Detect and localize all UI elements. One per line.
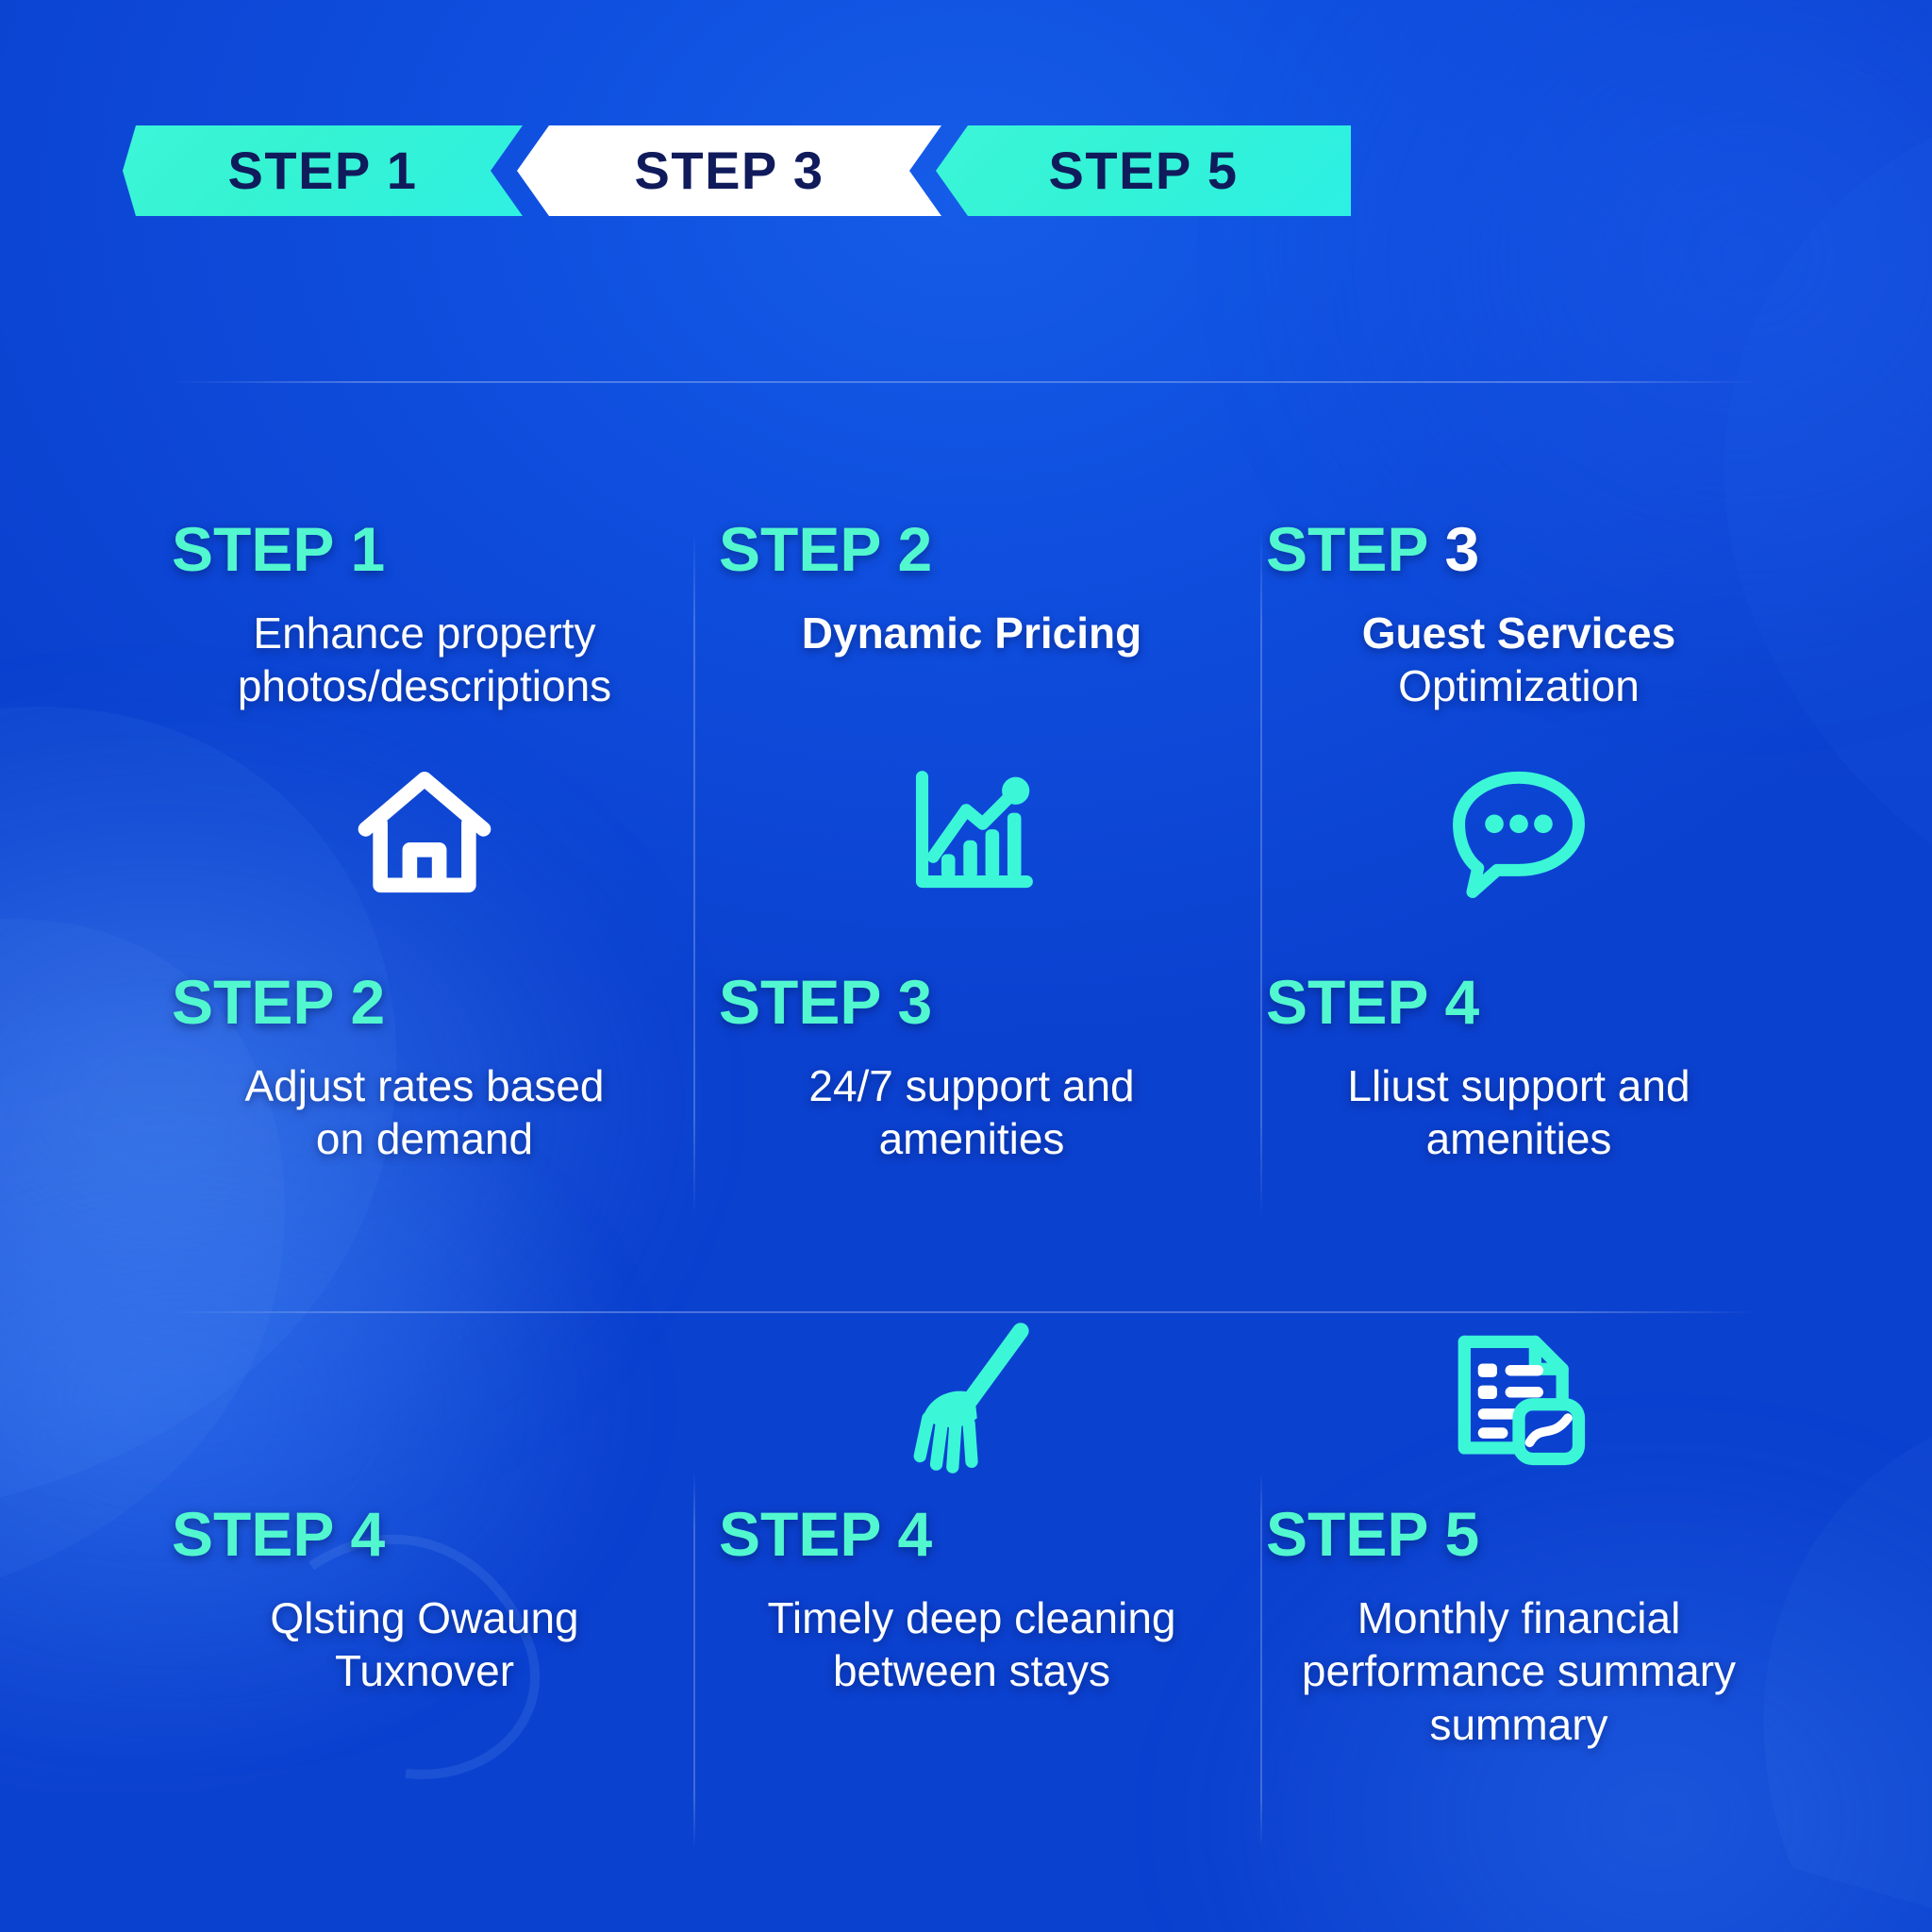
tab-step-5[interactable]: STEP 5 — [936, 125, 1351, 216]
cell-step-3-step-label: STEP 3 — [1266, 514, 1479, 584]
cell-step-1-desc-line1: Enhance property — [172, 607, 677, 659]
cell-step-3b-step-label: STEP 3 — [719, 967, 932, 1037]
tab-step-5-label: STEP 5 — [1049, 144, 1239, 197]
cell-step-5c-desc-line3: summary — [1266, 1698, 1772, 1751]
icon-cell-bar-chart — [698, 766, 1245, 898]
cell-step-5c: STEP 5 Monthly financial performance sum… — [1245, 1502, 1792, 1751]
cell-step-2-desc-line1: Dynamic Pricing — [719, 607, 1224, 659]
cell-step-2-heading: STEP 2 — [719, 517, 1224, 582]
icon-row-1 — [151, 766, 1792, 898]
cell-step-4d: STEP 4 Timely deep cleaning between stay… — [698, 1502, 1245, 1751]
icon-cell-chat-bubble — [1245, 766, 1792, 898]
house-icon — [354, 766, 495, 898]
cell-step-2b-heading: STEP 2 — [172, 970, 677, 1035]
cell-step-1-desc: Enhance property photos/descriptions — [172, 607, 677, 712]
cell-step-2b: STEP 2 Adjust rates based on demand — [151, 970, 698, 1166]
content-row-3: STEP 4 Qlsting Owaung Tuxnover STEP 4 Ti… — [151, 1502, 1792, 1751]
content-row-1: STEP 1 Enhance property photos/descripti… — [151, 517, 1792, 713]
cell-step-5c-desc-line1: Monthly financial — [1266, 1591, 1772, 1644]
cell-step-4c-desc-line1: Qlsting Owaung — [172, 1591, 677, 1644]
cell-step-2-desc: Dynamic Pricing — [719, 607, 1224, 659]
cell-step-3b-heading: STEP 3 — [719, 970, 1224, 1035]
cell-step-3-number: 3 — [1445, 514, 1480, 584]
cell-step-4b: STEP 4 Lliust support and amenities — [1245, 970, 1792, 1166]
bar-chart-growth-icon — [906, 766, 1038, 898]
cell-step-5c-heading: STEP 5 — [1266, 1502, 1772, 1567]
cell-step-1: STEP 1 Enhance property photos/descripti… — [151, 517, 698, 713]
cell-step-4b-desc-line1: Lliust support and — [1266, 1059, 1772, 1112]
cell-step-5c-step-label: STEP 5 — [1266, 1499, 1479, 1569]
cell-step-3-desc-line1: Guest Services — [1266, 607, 1772, 659]
cell-step-4c-heading: STEP 4 — [172, 1502, 677, 1567]
cell-step-1-heading: STEP 1 — [172, 517, 677, 582]
cell-step-3b-desc: 24/7 support and amenities — [719, 1059, 1224, 1165]
cell-step-3-desc: Guest Services Optimization — [1266, 607, 1772, 712]
cell-step-2b-desc: Adjust rates based on demand — [172, 1059, 677, 1165]
icon-cell-document-report — [1245, 1319, 1792, 1479]
cell-step-4d-desc: Timely deep cleaning between stays — [719, 1591, 1224, 1697]
cell-step-4c-step-label: STEP 4 — [172, 1499, 385, 1569]
cell-step-2b-desc-line1: Adjust rates based — [172, 1059, 677, 1112]
cell-step-3: STEP 3 Guest Services Optimization — [1245, 517, 1792, 713]
cell-step-2b-step-label: STEP 2 — [172, 967, 385, 1037]
cell-step-3b-desc-line2: amenities — [719, 1112, 1224, 1165]
cell-step-4b-desc: Lliust support and amenities — [1266, 1059, 1772, 1165]
cell-step-2-step-label: STEP 2 — [719, 514, 932, 584]
divider-horizontal-top — [172, 381, 1760, 383]
cell-step-4d-heading: STEP 4 — [719, 1502, 1224, 1567]
cell-step-4d-desc-line1: Timely deep cleaning — [719, 1591, 1224, 1644]
broom-icon — [901, 1319, 1042, 1479]
icon-cell-house — [151, 766, 698, 898]
cell-step-2b-desc-line2: on demand — [172, 1112, 677, 1165]
cell-step-5c-desc: Monthly financial performance summary su… — [1266, 1591, 1772, 1750]
infographic-canvas: STEP 1 STEP 3 STEP 5 STEP 1 Enhance prop… — [0, 0, 1932, 1932]
step-tabs-bar: STEP 1 STEP 3 STEP 5 — [123, 125, 1351, 216]
cell-step-4d-step-label: STEP 4 — [719, 1499, 932, 1569]
cell-step-1-desc-line2: photos/descriptions — [172, 659, 677, 712]
cell-step-3b: STEP 3 24/7 support and amenities — [698, 970, 1245, 1166]
divider-horizontal-bottom — [172, 1311, 1760, 1313]
tab-step-1[interactable]: STEP 1 — [123, 125, 523, 216]
cell-step-3-desc-line2: Optimization — [1266, 659, 1772, 712]
document-report-icon — [1448, 1328, 1590, 1470]
cell-step-4b-step-label: STEP 4 — [1266, 967, 1479, 1037]
cell-step-4d-desc-line2: between stays — [719, 1644, 1224, 1697]
cell-step-2: STEP 2 Dynamic Pricing — [698, 517, 1245, 713]
tab-step-3-label: STEP 3 — [635, 144, 824, 197]
cell-step-4b-desc-line2: amenities — [1266, 1112, 1772, 1165]
cell-step-3b-desc-line1: 24/7 support and — [719, 1059, 1224, 1112]
cell-step-4c-desc-line2: Tuxnover — [172, 1644, 677, 1697]
icon-cell-empty — [151, 1319, 698, 1479]
icon-row-2 — [151, 1319, 1792, 1479]
chat-bubble-icon — [1448, 766, 1590, 898]
cell-step-1-step-label: STEP 1 — [172, 514, 385, 584]
tab-step-3[interactable]: STEP 3 — [517, 125, 941, 216]
cell-step-3-heading: STEP 3 — [1266, 517, 1772, 582]
cell-step-4b-heading: STEP 4 — [1266, 970, 1772, 1035]
cell-step-4c-desc: Qlsting Owaung Tuxnover — [172, 1591, 677, 1697]
cell-step-4c: STEP 4 Qlsting Owaung Tuxnover — [151, 1502, 698, 1751]
content-row-2: STEP 2 Adjust rates based on demand STEP… — [151, 970, 1792, 1166]
tab-step-1-label: STEP 1 — [228, 144, 418, 197]
cell-step-5c-desc-line2: performance summary — [1266, 1644, 1772, 1697]
icon-cell-broom — [698, 1319, 1245, 1479]
